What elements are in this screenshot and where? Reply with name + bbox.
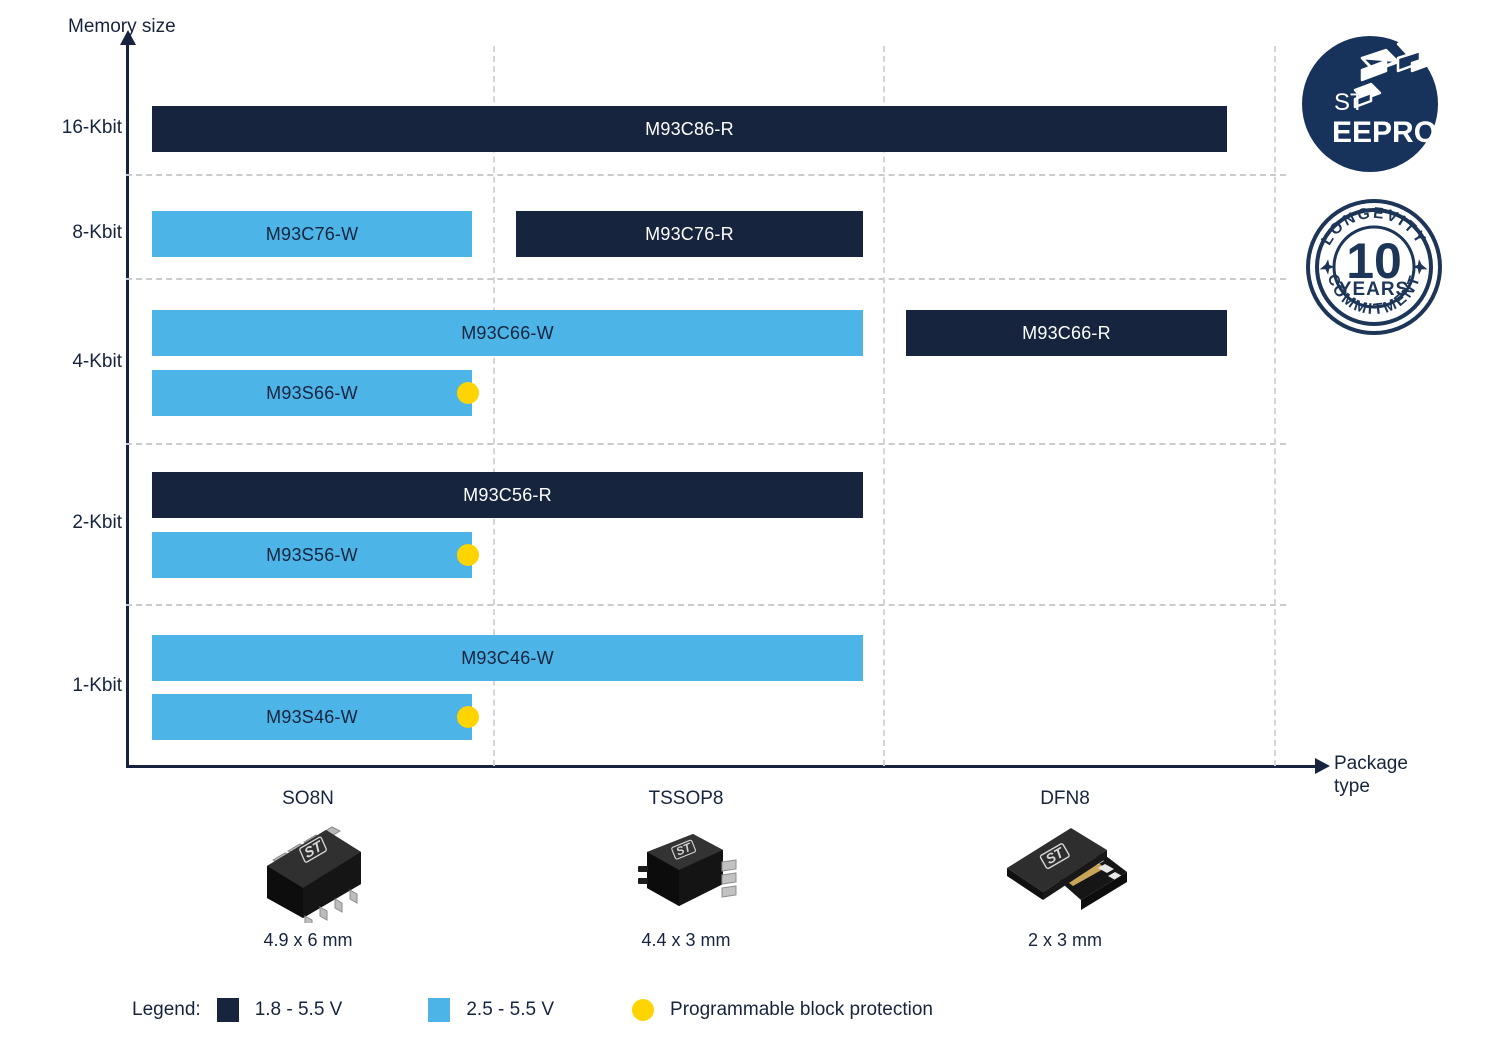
longevity-commitment-badge: LONGEVITY COMMITMENT 10 YEARS [1303, 196, 1445, 338]
gridline-horizontal-1 [126, 174, 1286, 176]
legend-item-block-protection: Programmable block protection [632, 999, 933, 1021]
x-axis-title-line1: Package [1334, 752, 1444, 775]
x-axis-title-line2: type [1334, 775, 1444, 798]
tssop8-package-icon: ST [621, 822, 751, 927]
bar-m93c76-w[interactable]: M93C76-W [152, 211, 472, 257]
longevity-badge-years-text: YEARS [1339, 279, 1409, 300]
package-dimensions-tssop8: 4.4 x 3 mm [641, 930, 730, 951]
bar-label-m93c46-w: M93C46-W [461, 648, 554, 669]
y-axis-title: Memory size [68, 16, 176, 38]
bar-m93s66-w[interactable]: M93S66-W [152, 370, 472, 416]
legend: Legend: 1.8 - 5.5 V 2.5 - 5.5 V Programm… [132, 998, 933, 1022]
block-protection-dot-m93s56-w [457, 544, 479, 566]
legend-swatch-blue [428, 998, 450, 1022]
legend-item-1-8v: 1.8 - 5.5 V [217, 998, 343, 1022]
y-tick-label-2kbit: 2-Kbit [22, 512, 122, 534]
so8n-package-icon: ST [243, 818, 373, 928]
bar-label-m93s56-w: M93S56-W [266, 545, 358, 566]
legend-title: Legend: [132, 999, 201, 1021]
bar-m93c56-r[interactable]: M93C56-R [152, 472, 863, 518]
y-tick-label-1kbit: 1-Kbit [22, 675, 122, 697]
legend-swatch-yellow-circle [632, 999, 654, 1021]
legend-swatch-navy [217, 998, 239, 1022]
gridline-vertical-dfn8-end [1274, 46, 1276, 766]
package-name-tssop8: TSSOP8 [649, 788, 724, 810]
bar-label-m93s46-w: M93S46-W [266, 707, 358, 728]
legend-label-2-5v: 2.5 - 5.5 V [466, 999, 554, 1021]
x-axis-title: Package type [1334, 752, 1444, 798]
x-axis-arrow-icon [1315, 758, 1330, 774]
gridline-horizontal-3 [126, 443, 1286, 445]
st-eeprom-badge-st-text: ST [1334, 89, 1365, 116]
package-name-so8n: SO8N [282, 788, 334, 810]
y-axis-line [126, 44, 129, 768]
y-tick-label-8kbit: 8-Kbit [22, 222, 122, 244]
bar-m93c46-w[interactable]: M93C46-W [152, 635, 863, 681]
bar-label-m93c66-r: M93C66-R [1022, 323, 1111, 344]
bar-m93s46-w[interactable]: M93S46-W [152, 694, 472, 740]
dfn8-package-icon: ST [995, 812, 1135, 927]
bar-label-m93c66-w: M93C66-W [461, 323, 554, 344]
gridline-horizontal-4 [126, 604, 1286, 606]
bar-label-m93c76-w: M93C76-W [266, 224, 359, 245]
package-dimensions-dfn8: 2 x 3 mm [1028, 930, 1102, 951]
infographic-canvas: Memory size Package type 16-Kbit 8-Kbit … [0, 0, 1500, 1048]
st-eeprom-badge-eeprom-text: EEPROM [1332, 116, 1448, 149]
block-protection-dot-m93s46-w [457, 706, 479, 728]
package-name-dfn8: DFN8 [1040, 788, 1090, 810]
bar-label-m93c86-r: M93C86-R [645, 119, 734, 140]
bar-label-m93c76-r: M93C76-R [645, 224, 734, 245]
st-eeprom-badge: ST EEPROM [1300, 28, 1448, 176]
legend-label-block-protection: Programmable block protection [670, 999, 933, 1021]
bar-m93c86-r[interactable]: M93C86-R [152, 106, 1227, 152]
bar-label-m93c56-r: M93C56-R [463, 485, 552, 506]
bar-m93c66-w[interactable]: M93C66-W [152, 310, 863, 356]
bar-m93s56-w[interactable]: M93S56-W [152, 532, 472, 578]
block-protection-dot-m93s66-w [457, 382, 479, 404]
legend-label-1-8v: 1.8 - 5.5 V [255, 999, 343, 1021]
longevity-badge-star-icon-left [1320, 259, 1335, 274]
y-tick-label-16kbit: 16-Kbit [22, 117, 122, 139]
gridline-vertical-tssop8-dfn8 [883, 46, 885, 766]
legend-item-2-5v: 2.5 - 5.5 V [428, 998, 554, 1022]
x-axis-line [126, 765, 1321, 768]
bar-m93c76-r[interactable]: M93C76-R [516, 211, 863, 257]
package-dimensions-so8n: 4.9 x 6 mm [263, 930, 352, 951]
gridline-horizontal-2 [126, 278, 1286, 280]
bar-label-m93s66-w: M93S66-W [266, 383, 358, 404]
bar-m93c66-r[interactable]: M93C66-R [906, 310, 1227, 356]
y-tick-label-4kbit: 4-Kbit [22, 351, 122, 373]
